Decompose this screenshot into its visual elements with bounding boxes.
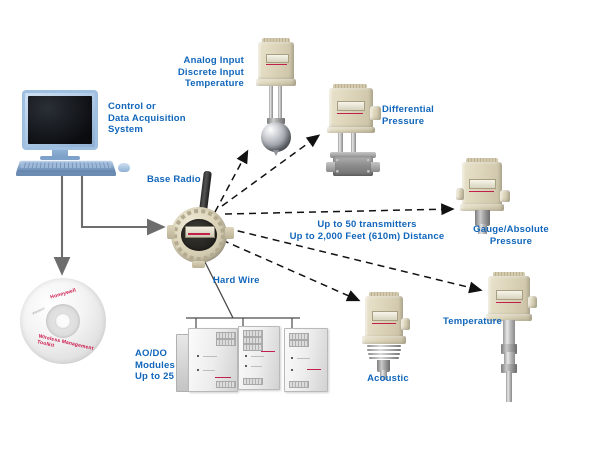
differential-pressure-transmitter[interactable]: [325, 84, 387, 176]
module-2[interactable]: [238, 326, 280, 390]
module-3-bottom-terminals: [289, 381, 309, 388]
analog-input-transmitter[interactable]: [250, 38, 302, 160]
base-radio-right-port: [225, 227, 234, 239]
module-3-brand: [307, 369, 321, 370]
acoustic-transmitter[interactable]: [360, 292, 416, 380]
acoustic-display: [372, 311, 398, 321]
ao-do-modules-label: AO/DO Modules Up to 25: [135, 348, 205, 383]
cd-brand-text: Honeywell: [50, 287, 77, 300]
temperature-label: Temperature: [443, 316, 523, 328]
base-radio-bottom-port: [192, 261, 205, 268]
acoustic-label: Acoustic: [350, 373, 426, 385]
control-system-label: Control or Data Acquisition System: [108, 101, 198, 136]
acoustic-fin-4: [369, 357, 399, 359]
module-2-text-2: [251, 366, 262, 367]
hard-wire-label: Hard Wire: [213, 275, 293, 287]
module-2-top-terminals-2: [243, 337, 263, 344]
dp-brand-stripe: [337, 113, 363, 114]
monitor-base: [40, 156, 80, 160]
dp-process-port-right: [371, 162, 380, 172]
temp-right-port: [528, 296, 537, 308]
module-2-bottom-terminals: [243, 378, 263, 385]
dp-bolt-1: [336, 159, 339, 162]
cd-center-hole: [55, 313, 71, 329]
module-2-led-1: [245, 355, 247, 357]
base-radio-display: [185, 226, 215, 238]
module-1-text-1: [203, 356, 217, 357]
wireless-link-gauge-absolute: [225, 209, 452, 214]
cd-subtext: Wireless: [32, 306, 45, 315]
temp-brand-stripe: [496, 302, 521, 303]
dp-bolt-4: [367, 170, 370, 173]
module-3-text-1: [297, 358, 310, 359]
dp-display: [337, 101, 365, 111]
module-2-top-terminals-3: [243, 344, 263, 351]
analog-input-float-ball: [261, 122, 291, 152]
acoustic-brand-stripe: [372, 323, 396, 324]
module-1-bottom-terminals: [216, 381, 236, 388]
base-radio-label: Base Radio: [147, 174, 227, 186]
dp-process-port-left: [326, 162, 335, 172]
monitor-frame: [22, 90, 98, 150]
keyboard-tray: [16, 172, 116, 176]
acoustic-fin-2: [367, 349, 401, 351]
base-radio-housing: [171, 207, 227, 263]
acoustic-base-flange: [362, 336, 406, 344]
acoustic-fin-3: [368, 353, 400, 355]
dp-bolt-2: [367, 159, 370, 162]
cd-disc-surface: Honeywell Wireless Wireless Management T…: [20, 278, 106, 364]
dp-bolt-3: [336, 170, 339, 173]
module-3[interactable]: [284, 328, 328, 392]
module-2-text-1: [251, 356, 264, 357]
analog-input-label: Analog Input Discrete Input Temperature: [160, 55, 244, 90]
module-1-brand: [215, 377, 231, 378]
gauge-display: [469, 179, 496, 189]
base-radio-left-port: [167, 225, 175, 239]
differential-pressure-label: Differential Pressure: [382, 104, 472, 127]
module-3-led-1: [291, 357, 293, 359]
module-3-top-terminals: [289, 333, 309, 340]
module-1-top-terminals-2: [216, 339, 236, 346]
diagram-canvas: Control or Data Acquisition System Honey…: [0, 0, 600, 450]
gauge-absolute-label: Gauge/Absolute Pressure: [455, 224, 567, 247]
module-2-led-2: [245, 365, 247, 367]
capacity-label: Up to 50 transmitters Up to 2,000 Feet (…: [282, 219, 452, 242]
acoustic-right-port: [401, 318, 410, 330]
module-3-top-terminals-2: [289, 340, 309, 347]
mouse[interactable]: [118, 163, 130, 172]
temperature-transmitter[interactable]: [483, 272, 543, 402]
analog-input-float-tip: [273, 150, 279, 156]
analog-input-brand-stripe: [266, 64, 287, 65]
temp-probe-thermowell: [506, 371, 512, 402]
analog-input-stem-left: [269, 86, 273, 122]
analog-input-base-flange: [256, 79, 296, 86]
gauge-brand-stripe: [469, 191, 494, 192]
temp-display: [496, 290, 523, 300]
analog-input-stem-right: [278, 86, 282, 122]
monitor-screen: [28, 96, 92, 144]
cd-title-text: Wireless Management Toolkit: [37, 333, 107, 360]
module-2-brand: [261, 351, 275, 352]
base-radio[interactable]: [168, 183, 238, 268]
software-cd[interactable]: Honeywell Wireless Wireless Management T…: [20, 278, 106, 364]
analog-input-display: [266, 54, 289, 63]
module-2-top-terminals: [243, 330, 263, 337]
acoustic-fin-1: [367, 345, 401, 347]
module-1-top-terminals: [216, 332, 236, 339]
keyboard[interactable]: [16, 161, 116, 173]
module-3-led-2: [291, 369, 293, 371]
wireless-link-acoustic: [222, 240, 358, 300]
dp-side-port: [370, 106, 381, 120]
gauge-left-port: [456, 188, 464, 200]
gauge-right-port: [500, 190, 510, 202]
